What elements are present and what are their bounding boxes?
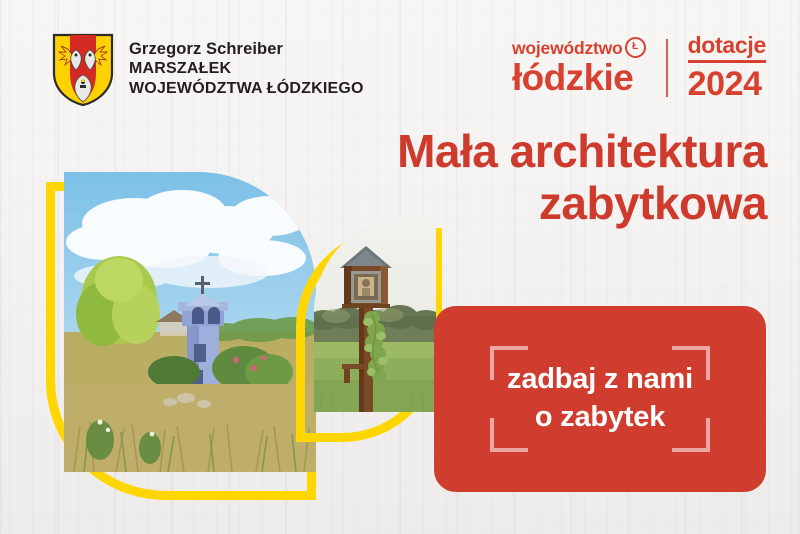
cta-text: zadbaj z nami o zabytek bbox=[434, 306, 766, 492]
chapel-illustration bbox=[64, 172, 316, 472]
marshal-title: MARSZAŁEK bbox=[129, 59, 364, 79]
wooden-roadside-shrine-photo bbox=[314, 216, 436, 412]
headline-line-1: Mała architektura bbox=[247, 125, 767, 177]
poster-canvas: Grzegorz Schreiber MARSZAŁEK WOJEWÓDZTWA… bbox=[0, 0, 800, 534]
program-year: 2024 bbox=[688, 67, 766, 101]
voivodeship-brand: województwo Ł łódzkie bbox=[512, 40, 646, 96]
shrine-illustration bbox=[314, 216, 436, 412]
cta-line-1: zadbaj z nami bbox=[507, 361, 693, 399]
blue-wayside-chapel-photo bbox=[64, 172, 316, 472]
marshal-identity-block: Grzegorz Schreiber MARSZAŁEK WOJEWÓDZTWA… bbox=[52, 33, 364, 107]
cta-line-2: o zabytek bbox=[535, 399, 665, 437]
lodzkie-ring-icon: Ł bbox=[625, 37, 646, 58]
lodz-voivodeship-coat-of-arms-icon bbox=[52, 33, 114, 107]
marshal-name: Grzegorz Schreiber bbox=[129, 39, 364, 59]
program-label: dotacje bbox=[688, 34, 766, 63]
headline: Mała architektura zabytkowa bbox=[247, 125, 767, 230]
program-brand: dotacje 2024 bbox=[688, 34, 766, 101]
marshal-region: WOJEWÓDZTWA ŁÓDZKIEGO bbox=[129, 79, 364, 99]
voivodeship-word: województwo bbox=[512, 40, 623, 58]
cta-banner: zadbaj z nami o zabytek bbox=[434, 306, 766, 492]
voivodeship-word-row: województwo Ł bbox=[512, 40, 646, 58]
marshal-text: Grzegorz Schreiber MARSZAŁEK WOJEWÓDZTWA… bbox=[129, 33, 364, 99]
region-name: łódzkie bbox=[512, 60, 646, 96]
brand-divider bbox=[666, 39, 668, 97]
brand-lockup: województwo Ł łódzkie dotacje 2024 bbox=[512, 34, 766, 101]
